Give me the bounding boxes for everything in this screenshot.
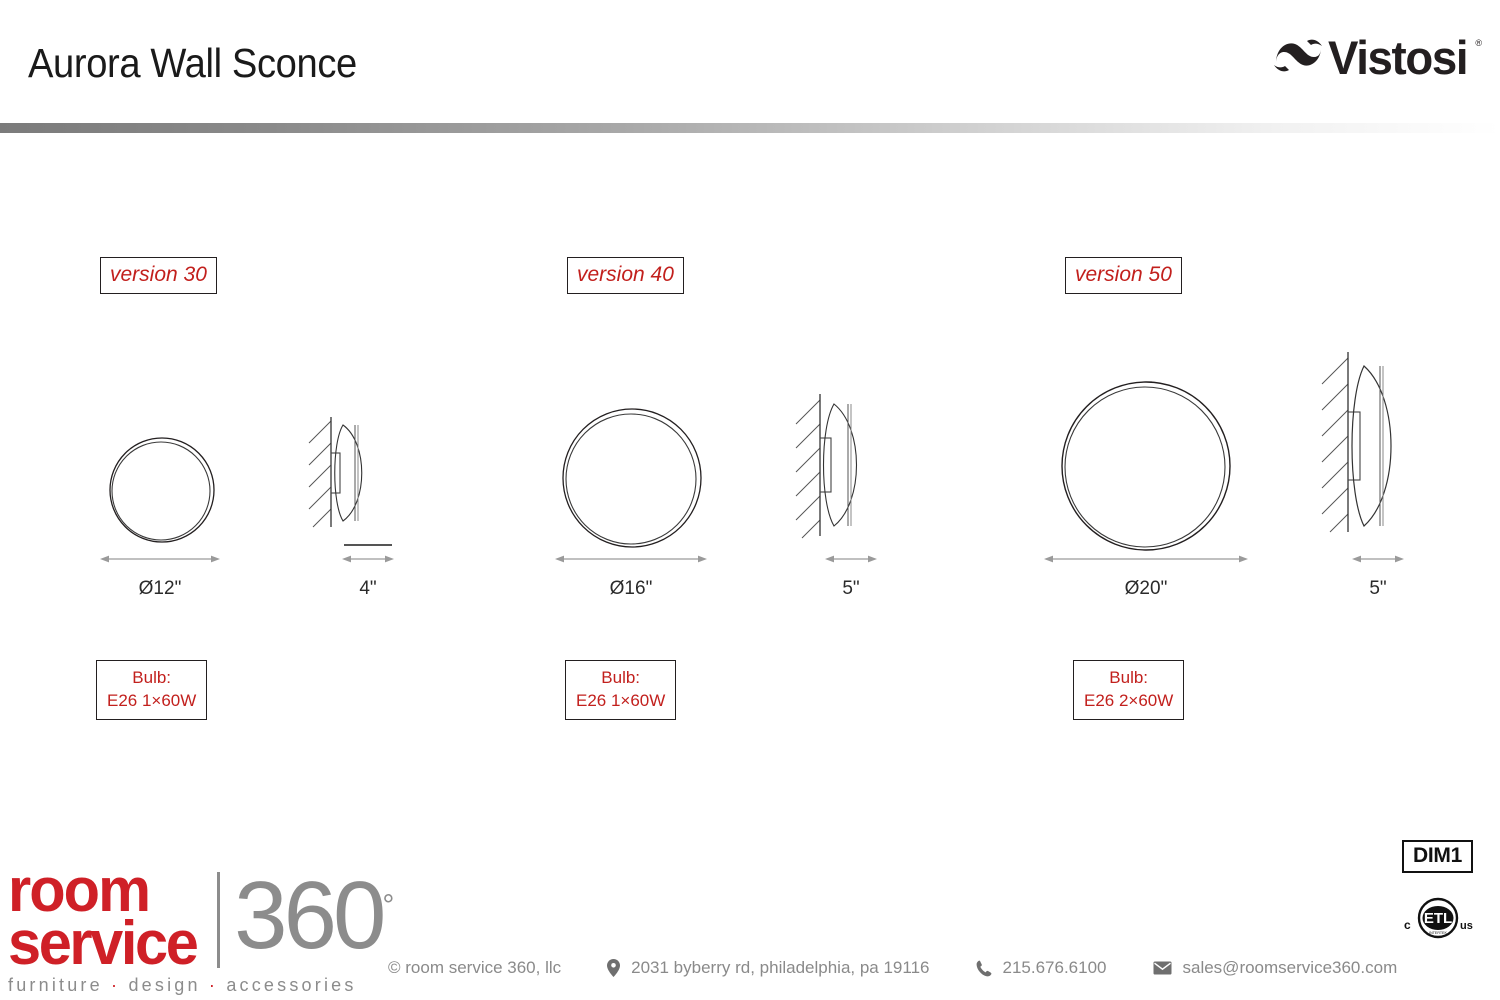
phone-icon [976, 960, 992, 977]
bulb-tag-50: Bulb: E26 2×60W [1073, 660, 1184, 720]
bulb-spec: E26 1×60W [107, 691, 196, 710]
version-column-40: version 40 Ø16" [470, 0, 950, 1000]
address-label: 2031 byberry rd, philadelphia, pa 19116 [631, 958, 929, 978]
version-tag-40: version 40 [567, 257, 684, 294]
sconce-side-profile-icon [1318, 336, 1438, 561]
copyright-label: © room service 360, llc [388, 958, 561, 978]
front-dimension-label-30: Ø12" [100, 578, 220, 600]
side-dimension-arrow [1352, 552, 1404, 571]
dim1-badge: DIM1 [1402, 840, 1473, 873]
bulb-spec: E26 2×60W [1084, 691, 1173, 710]
phone-item[interactable]: 215.676.6100 [976, 958, 1107, 978]
side-dimension-arrow [825, 552, 877, 571]
tagline-design: design [128, 975, 200, 995]
tagline-dot: · [111, 975, 120, 995]
address-item[interactable]: 2031 byberry rd, philadelphia, pa 19116 [607, 958, 929, 978]
svg-text:ETL: ETL [1424, 910, 1452, 927]
sconce-side-profile-icon [792, 372, 902, 557]
side-dimension-label-40: 5" [811, 578, 891, 600]
front-dimension-label-40: Ø16" [555, 578, 707, 600]
etl-certification-icon: c ETL INTERTEK us [1400, 895, 1478, 946]
side-dimension-label-50: 5" [1338, 578, 1418, 600]
trademark-symbol: ® [1475, 38, 1482, 48]
side-dimension-arrow [340, 542, 396, 571]
sconce-front-circle-icon [1036, 356, 1256, 581]
front-dimension-arrow [100, 552, 220, 571]
bulb-tag-40: Bulb: E26 1×60W [565, 660, 676, 720]
copyright-text: © room service 360, llc [388, 958, 561, 978]
phone-label: 215.676.6100 [1003, 958, 1107, 978]
bulb-label: Bulb: [132, 668, 171, 687]
bulb-label: Bulb: [1109, 668, 1148, 687]
svg-text:INTERTEK: INTERTEK [1429, 931, 1447, 935]
tagline-accessories: accessories [226, 975, 356, 995]
logo-360-text: 360 [234, 862, 382, 969]
bulb-label: Bulb: [601, 668, 640, 687]
logo-tagline: furniture · design · accessories [8, 975, 394, 996]
side-dimension-label-30: 4" [328, 578, 408, 600]
footer-contact-bar: © room service 360, llc 2031 byberry rd,… [388, 958, 1397, 978]
spec-sheet-page: Aurora Wall Sconce Vistosi ® version 30 [0, 0, 1500, 1000]
version-tag-30: version 30 [100, 257, 217, 294]
front-dimension-arrow [1044, 552, 1248, 571]
svg-text:us: us [1460, 920, 1473, 932]
version-tag-50: version 50 [1065, 257, 1182, 294]
logo-360: 360° [234, 868, 394, 964]
svg-text:c: c [1404, 918, 1411, 932]
envelope-icon [1153, 961, 1172, 975]
front-dimension-label-50: Ø20" [1044, 578, 1248, 600]
email-label: sales@roomservice360.com [1183, 958, 1398, 978]
room-service-wordmark: room service [8, 866, 204, 971]
logo-divider [217, 872, 220, 968]
version-column-50: version 50 Ø20" [940, 0, 1440, 1000]
tagline-furniture: furniture [8, 975, 103, 995]
sconce-front-circle-icon [92, 420, 232, 565]
email-item[interactable]: sales@roomservice360.com [1153, 958, 1398, 978]
tagline-dot: · [209, 975, 218, 995]
sconce-front-circle-icon [542, 388, 722, 573]
room-service-360-logo: room service 360° furniture · design · a… [8, 866, 394, 996]
version-column-30: version 30 Ø12" [0, 0, 480, 1000]
logo-word-service: service [8, 917, 196, 972]
bulb-tag-30: Bulb: E26 1×60W [96, 660, 207, 720]
logo-degree-symbol: ° [382, 889, 394, 922]
bulb-spec: E26 1×60W [576, 691, 665, 710]
location-pin-icon [607, 959, 620, 977]
sconce-side-profile-icon [305, 395, 405, 550]
front-dimension-arrow [555, 552, 707, 571]
